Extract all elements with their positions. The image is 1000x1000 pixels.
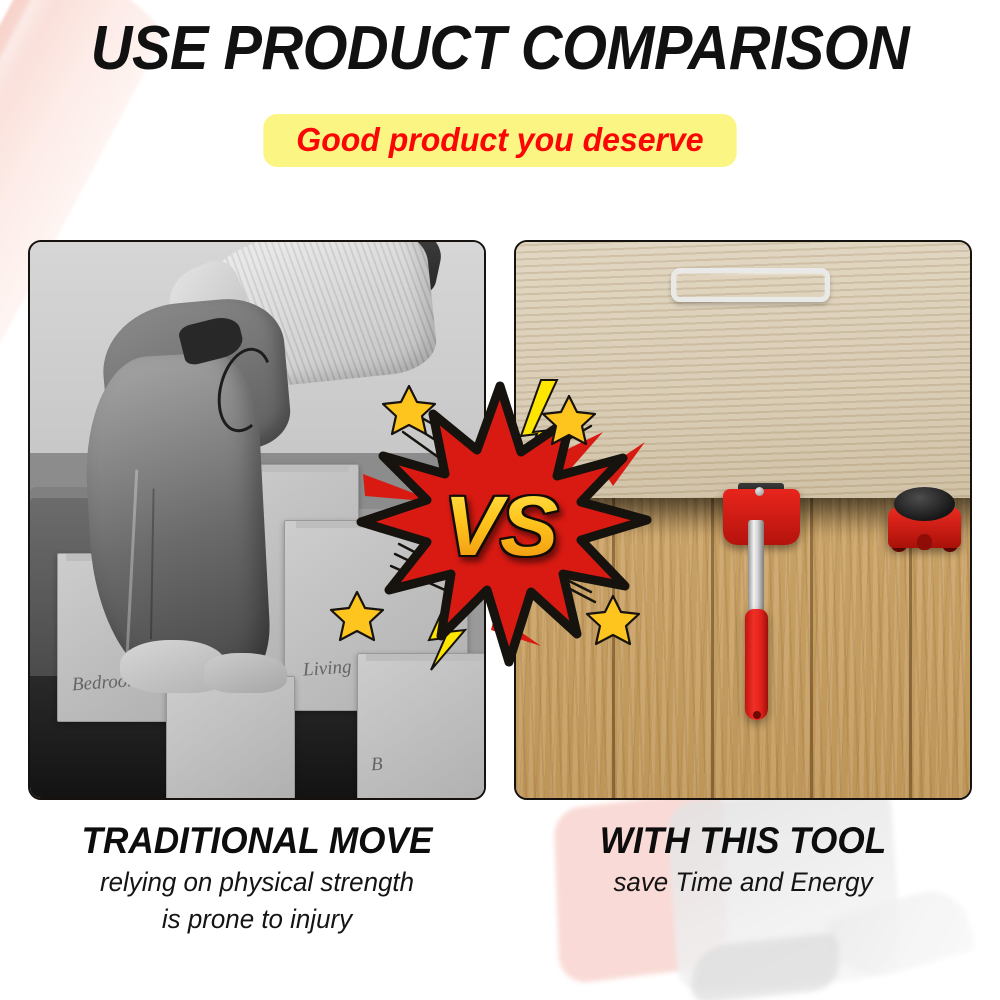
grayscale-moving-scene: Living Bedroom B	[30, 242, 484, 798]
furniture-roller-dolly	[888, 487, 961, 548]
lifter-red-grip	[745, 609, 768, 720]
dolly-rotating-pad	[894, 487, 955, 521]
caption-line-1: save Time and Energy	[523, 867, 963, 898]
person-lifting-box	[66, 240, 447, 676]
caption-heading: WITH THIS TOOL	[525, 822, 960, 861]
caption-traditional-move: TRADITIONAL MOVE relying on physical str…	[28, 822, 486, 935]
jeans-seam	[150, 488, 155, 639]
caption-heading: TRADITIONAL MOVE	[39, 822, 474, 861]
infographic-canvas: USE PRODUCT COMPARISON Good product you …	[0, 0, 1000, 1000]
caption-line-1: relying on physical strength	[37, 867, 477, 898]
subtitle-badge: Good product you deserve	[263, 114, 736, 167]
jeans-seam	[125, 470, 138, 661]
furniture-handle	[671, 268, 830, 302]
subtitle-banner-wrap: Good product you deserve	[0, 114, 1000, 167]
caption-with-this-tool: WITH THIS TOOL save Time and Energy	[514, 822, 972, 898]
lifter-bolt-icon	[755, 487, 764, 496]
panel-with-tool-photo	[514, 240, 972, 800]
wood-floor-scene	[516, 242, 970, 798]
box-label: B	[371, 753, 384, 776]
caption-line-2: is prone to injury	[37, 904, 477, 935]
dolly-notch	[917, 534, 932, 550]
cardboard-box	[166, 676, 295, 800]
person-foot	[204, 653, 288, 693]
panel-traditional-move-photo: Living Bedroom B	[28, 240, 486, 800]
page-title: USE PRODUCT COMPARISON	[35, 18, 965, 80]
watermark-tool-shadow-bottom-right	[687, 932, 842, 1000]
furniture-panel	[514, 240, 972, 498]
